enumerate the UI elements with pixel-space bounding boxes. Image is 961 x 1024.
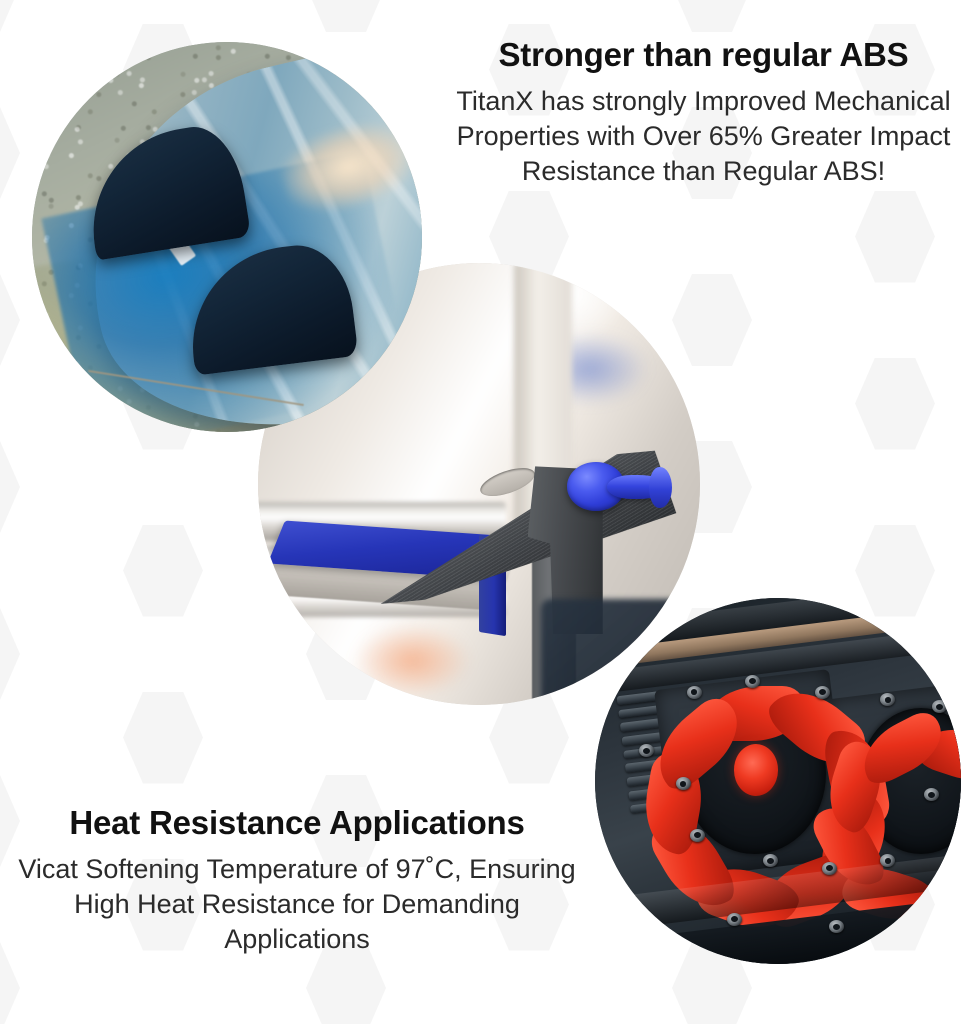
fan-scene: [595, 598, 961, 964]
screw-head: [822, 862, 837, 875]
feature-impact-resistance: Stronger than regular ABS TitanX has str…: [446, 36, 961, 189]
fan-hub-1: [734, 744, 778, 795]
hexagon-shape: [123, 525, 203, 617]
hexagon-shape: [306, 0, 386, 32]
hexagon-shape: [0, 608, 20, 700]
infographic-canvas: Stronger than regular ABS TitanX has str…: [0, 0, 961, 1024]
hexagon-shape: [0, 107, 20, 199]
screw-head: [745, 675, 760, 688]
feature-heat-resistance: Heat Resistance Applications Vicat Softe…: [8, 804, 586, 957]
heat-resistance-heading: Heat Resistance Applications: [8, 804, 586, 843]
screw-head: [676, 777, 691, 790]
hexagon-shape: [672, 0, 752, 32]
blue-thumbscrew-wing: [607, 475, 669, 499]
photo-surfboard-fins: [32, 42, 422, 432]
impact-resistance-heading: Stronger than regular ABS: [446, 36, 961, 75]
impact-resistance-body: TitanX has strongly Improved Mechanical …: [446, 84, 961, 189]
heat-resistance-body: Vicat Softening Temperature of 97˚C, Ens…: [8, 852, 586, 957]
hexagon-shape: [0, 441, 20, 533]
screw-head: [690, 829, 705, 842]
screw-head: [687, 686, 702, 699]
warm-glow: [355, 625, 470, 696]
photo-cooling-fans: [595, 598, 961, 964]
hexagon-shape: [489, 692, 569, 784]
hexagon-shape: [0, 274, 20, 366]
hexagon-shape: [855, 358, 935, 450]
hexagon-shape: [855, 191, 935, 283]
hexagon-shape: [123, 692, 203, 784]
screw-head: [727, 913, 742, 926]
surfboard-scene: [32, 42, 422, 432]
hexagon-shape: [0, 0, 20, 32]
screw-head: [815, 686, 830, 699]
